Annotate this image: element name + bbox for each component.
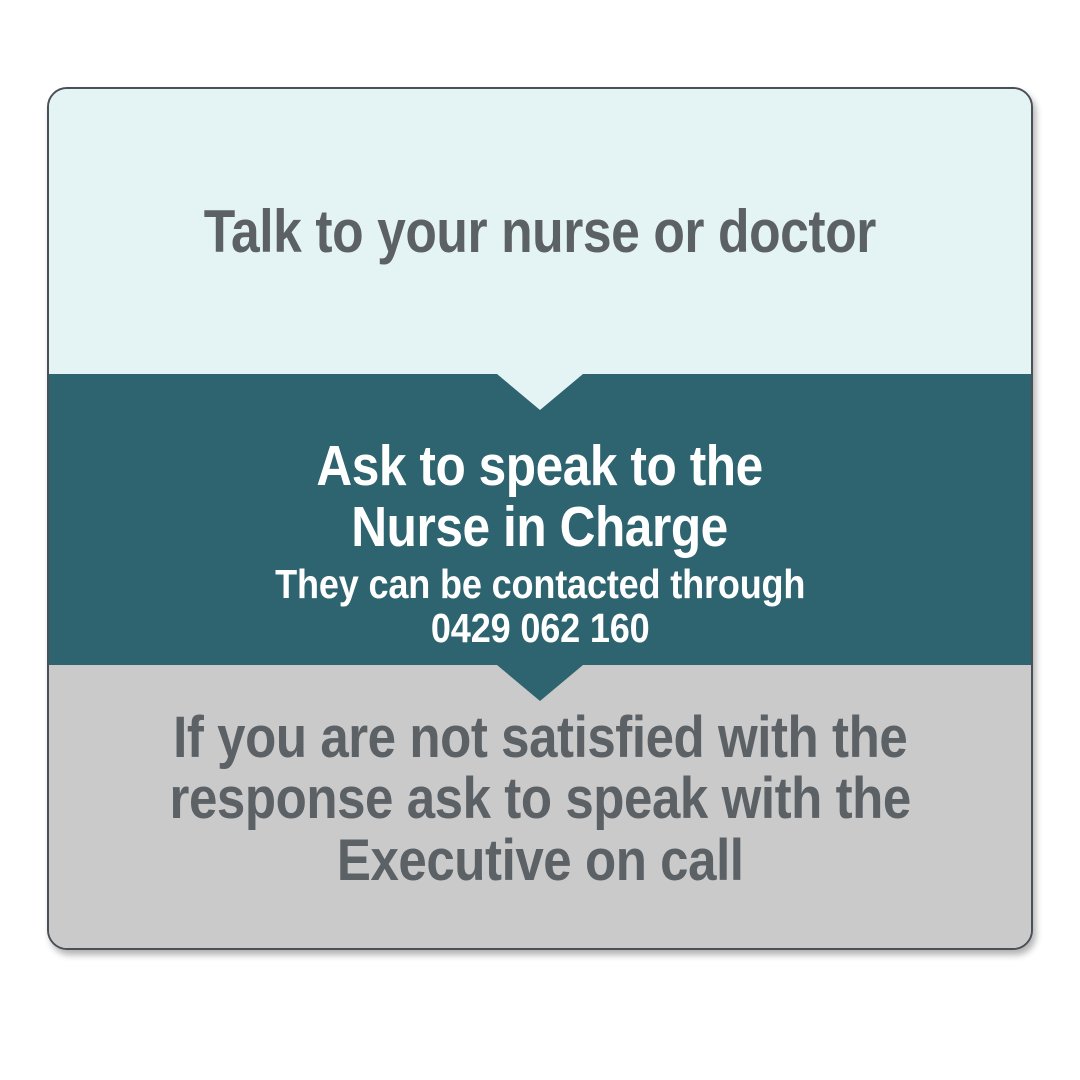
step-one-headline: Talk to your nurse or doctor <box>169 201 910 262</box>
step-escalate-to-executive: If you are not satisfied with the respon… <box>49 665 1031 950</box>
arrow-down-icon <box>497 374 583 410</box>
step-two-headline-line-1: Ask to speak to the <box>317 434 763 498</box>
escalation-pathway-card: Talk to your nurse or doctor Ask to spea… <box>47 87 1033 950</box>
step-ask-for-nurse-in-charge: Ask to speak to the Nurse in Charge They… <box>49 374 1031 665</box>
contact-instruction-text: They can be contacted through <box>275 561 805 607</box>
nurse-in-charge-phone-number[interactable]: 0429 062 160 <box>275 606 805 650</box>
step-three-headline-line-1: If you are not satisfied with the <box>173 705 907 770</box>
step-three-headline-line-3: Executive on call <box>337 828 744 893</box>
page-canvas: Talk to your nurse or doctor Ask to spea… <box>0 0 1080 1080</box>
step-two-headline-line-2: Nurse in Charge <box>352 495 729 559</box>
step-three-headline: If you are not satisfied with the respon… <box>145 707 936 891</box>
step-two-headline: Ask to speak to the Nurse in Charge <box>282 436 798 558</box>
step-talk-to-nurse-or-doctor: Talk to your nurse or doctor <box>49 89 1031 374</box>
step-three-headline-line-2: response ask to speak with the <box>169 766 910 831</box>
step-two-contact-info: They can be contacted through 0429 062 1… <box>249 562 832 651</box>
arrow-down-icon <box>497 665 583 701</box>
